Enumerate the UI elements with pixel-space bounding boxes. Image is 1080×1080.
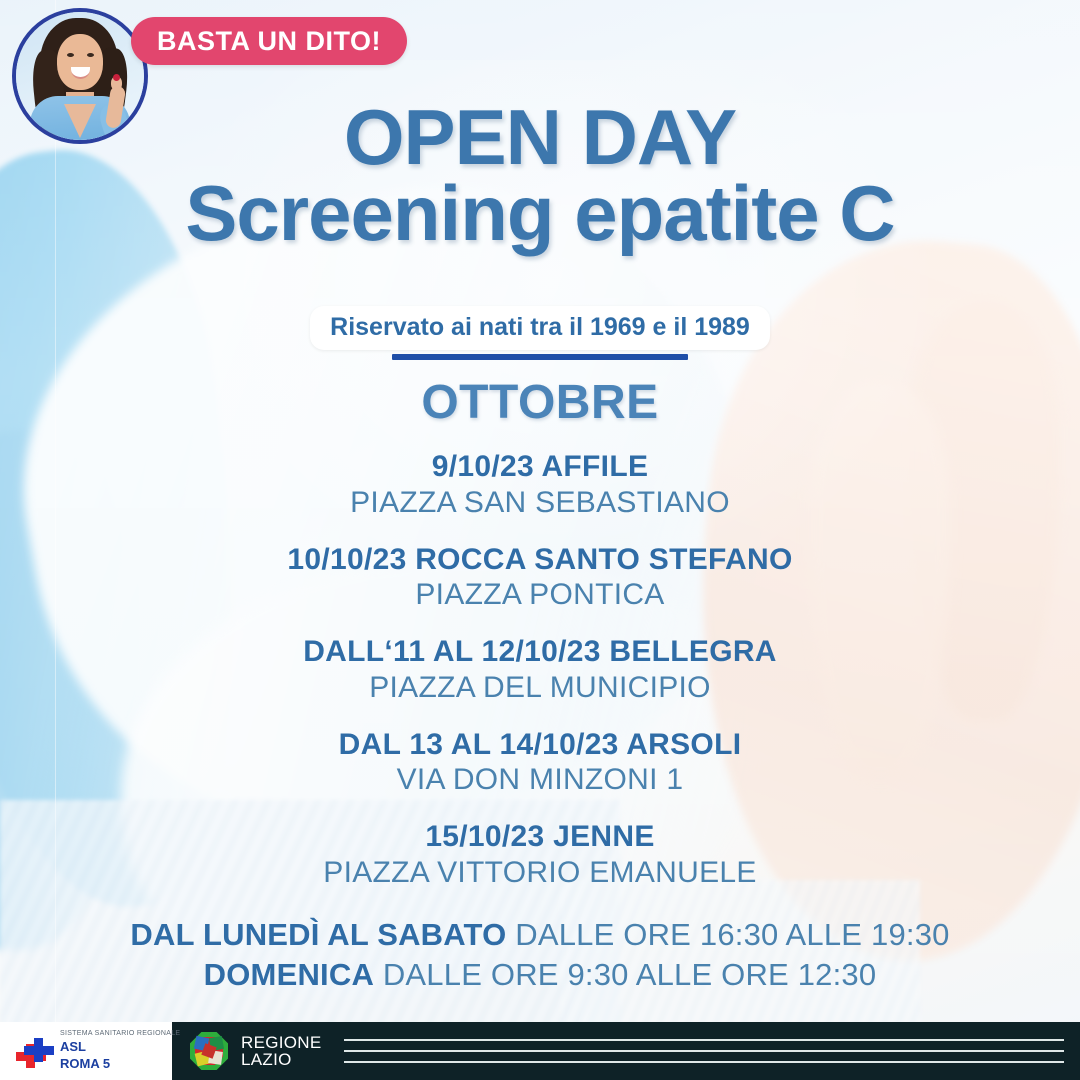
- regione-line-2: LAZIO: [241, 1051, 322, 1068]
- asl-tagline: SISTEMA SANITARIO REGIONALE: [60, 1030, 180, 1037]
- list-item: 15/10/23 JENNE PIAZZA VITTORIO EMANUELE: [0, 820, 1080, 891]
- asl-name-line-2: ROMA 5: [60, 1057, 180, 1071]
- hours-days: DAL LUNEDÌ AL SABATO: [130, 917, 506, 952]
- asl-name-line-1: ASL: [60, 1040, 180, 1054]
- list-item: 9/10/23 AFFILE PIAZZA SAN SEBASTIANO: [0, 450, 1080, 521]
- regione-lazio-text: REGIONE LAZIO: [241, 1034, 322, 1069]
- avatar-eye-left: [67, 53, 74, 57]
- list-item: DAL 13 AL 14/10/23 ARSOLI VIA DON MINZON…: [0, 728, 1080, 799]
- blood-drop-icon: [113, 74, 120, 81]
- list-item: DALL‘11 AL 12/10/23 BELLEGRA PIAZZA DEL …: [0, 635, 1080, 706]
- hours-row: DOMENICA DALLE ORE 9:30 ALLE ORE 12:30: [0, 955, 1080, 995]
- avatar: [12, 8, 148, 144]
- regione-lazio-icon: [190, 1032, 228, 1070]
- footer-rules: [344, 1039, 1064, 1063]
- list-item: 10/10/23 ROCCA SANTO STEFANO PIAZZA PONT…: [0, 543, 1080, 614]
- poster: BASTA UN DITO! OPEN DAY Screening epatit…: [0, 0, 1080, 1080]
- poster-content: OPEN DAY Screening epatite C Riservato a…: [0, 0, 1080, 1080]
- footer-rule-3: [344, 1061, 1064, 1063]
- tagline-badge-label: BASTA UN DITO!: [157, 26, 381, 57]
- hours-time: DALLE ORE 9:30 ALLE ORE 12:30: [374, 957, 876, 992]
- event-date: 10/10/23 ROCCA SANTO STEFANO: [0, 543, 1080, 578]
- asl-logo-panel: SISTEMA SANITARIO REGIONALE ASL ROMA 5: [0, 1022, 172, 1080]
- event-place: VIA DON MINZONI 1: [0, 762, 1080, 798]
- eligibility-underline: [392, 354, 688, 360]
- tagline-badge: BASTA UN DITO!: [131, 17, 407, 65]
- regione-line-1: REGIONE: [241, 1034, 322, 1051]
- hours-days: DOMENICA: [204, 957, 374, 992]
- blue-cross-icon: [24, 1038, 54, 1062]
- title-line-1: OPEN DAY: [0, 100, 1080, 176]
- hours-row: DAL LUNEDÌ AL SABATO DALLE ORE 16:30 ALL…: [0, 915, 1080, 955]
- event-place: PIAZZA VITTORIO EMANUELE: [0, 855, 1080, 891]
- event-place: PIAZZA SAN SEBASTIANO: [0, 485, 1080, 521]
- footer: SISTEMA SANITARIO REGIONALE ASL ROMA 5 R…: [0, 1022, 1080, 1080]
- opening-hours: DAL LUNEDÌ AL SABATO DALLE ORE 16:30 ALL…: [0, 915, 1080, 994]
- event-date: 15/10/23 JENNE: [0, 820, 1080, 855]
- event-place: PIAZZA PONTICA: [0, 577, 1080, 613]
- title-line-2: Screening epatite C: [0, 176, 1080, 252]
- event-place: PIAZZA DEL MUNICIPIO: [0, 670, 1080, 706]
- hours-time: DALLE ORE 16:30 ALLE 19:30: [506, 917, 949, 952]
- page-title: OPEN DAY Screening epatite C: [0, 100, 1080, 251]
- avatar-eye-right: [87, 53, 94, 57]
- event-date: DALL‘11 AL 12/10/23 BELLEGRA: [0, 635, 1080, 670]
- eligibility-block: Riservato ai nati tra il 1969 e il 1989: [0, 306, 1080, 360]
- month-heading: OTTOBRE: [0, 375, 1080, 430]
- event-date: 9/10/23 AFFILE: [0, 450, 1080, 485]
- avatar-face: [57, 34, 103, 90]
- regione-lazio-panel: REGIONE LAZIO: [172, 1022, 1080, 1080]
- events-list: 9/10/23 AFFILE PIAZZA SAN SEBASTIANO 10/…: [0, 450, 1080, 913]
- eligibility-pill: Riservato ai nati tra il 1969 e il 1989: [310, 306, 770, 350]
- event-date: DAL 13 AL 14/10/23 ARSOLI: [0, 728, 1080, 763]
- asl-logo-text: SISTEMA SANITARIO REGIONALE ASL ROMA 5: [60, 1030, 180, 1071]
- asl-cross-icon: [16, 1038, 52, 1068]
- footer-rule-2: [344, 1050, 1064, 1052]
- footer-rule-1: [344, 1039, 1064, 1041]
